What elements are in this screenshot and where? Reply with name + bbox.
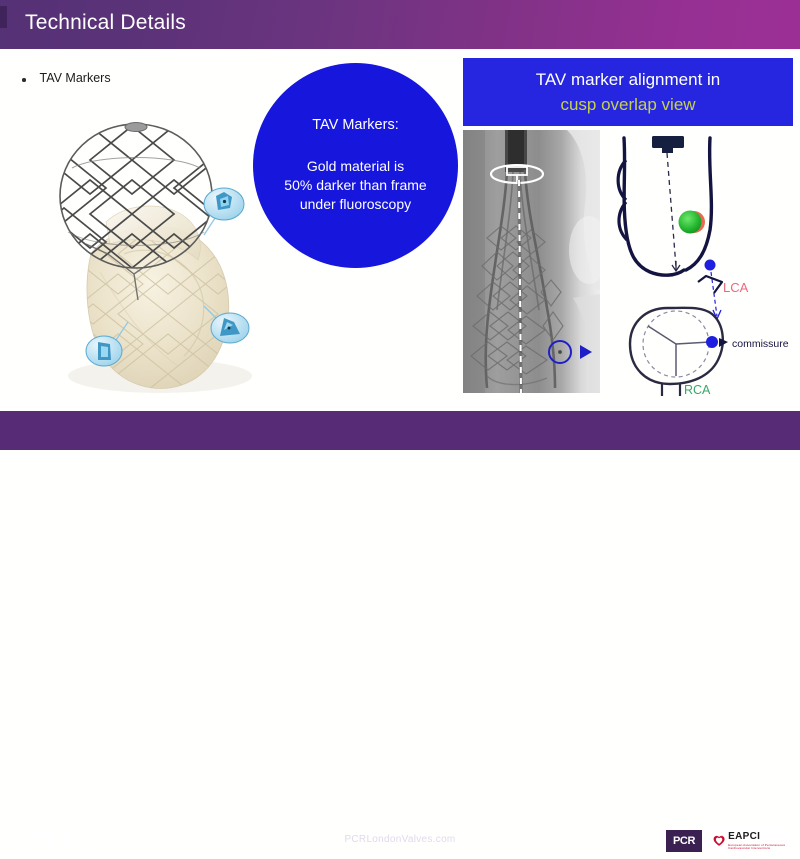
eapci-name: EAPCI [728,832,789,842]
label-commissure: commissure [732,338,789,350]
aortic-root-diagram: LCA commissure RCA [606,130,798,396]
bullet-dot-icon [22,78,26,82]
bullet-list-item: TAV Markers [22,71,111,86]
valve-marker-callout-1 [204,188,244,235]
callout-body-line-3: under fluoroscopy [284,195,426,214]
eapci-text-block: EAPCI European Association of Percutaneo… [728,832,789,850]
slide-header: Technical Details [0,0,800,49]
header-accent-notch [0,6,7,28]
banner-tav-marker-alignment: TAV marker alignment in cusp overlap vie… [463,58,793,126]
tav-markers-callout-circle: TAV Markers: Gold material is 50% darker… [253,63,458,268]
catheter-tip-marker [652,136,684,148]
fluoroscopy-image [463,130,600,393]
pcr-badge-label: PCR [673,835,695,847]
banner-line-1: TAV marker alignment in [536,67,721,93]
commissure-dot-upper [705,260,716,271]
bullet-label: TAV Markers [40,71,111,86]
eapci-badge-logo: EAPCI European Association of Percutaneo… [709,828,789,854]
label-rca: RCA [684,383,711,396]
slide-footer: 2023 PCR london valves PCRLondonValves.c… [0,411,800,450]
callout-body-line-2: 50% darker than frame [284,176,426,195]
slide-canvas: Technical Details TAV Markers [0,0,800,450]
eapci-heart-icon [713,831,725,851]
commissure-dot-lower [706,336,718,348]
callout-body: Gold material is 50% darker than frame u… [284,157,426,215]
marker-dot-green [679,211,702,234]
banner-line-2: cusp overlap view [560,92,695,118]
eapci-subtitle: European Association of Percutaneous Car… [728,844,789,850]
callout-body-line-1: Gold material is [284,157,426,176]
logo-london-valves: london valves [34,847,106,859]
label-lca: LCA [723,280,749,295]
page-title: Technical Details [25,11,186,35]
callout-title: TAV Markers: [312,116,398,134]
valve-3d-render [28,104,276,396]
pcr-badge-logo: PCR [666,830,702,852]
